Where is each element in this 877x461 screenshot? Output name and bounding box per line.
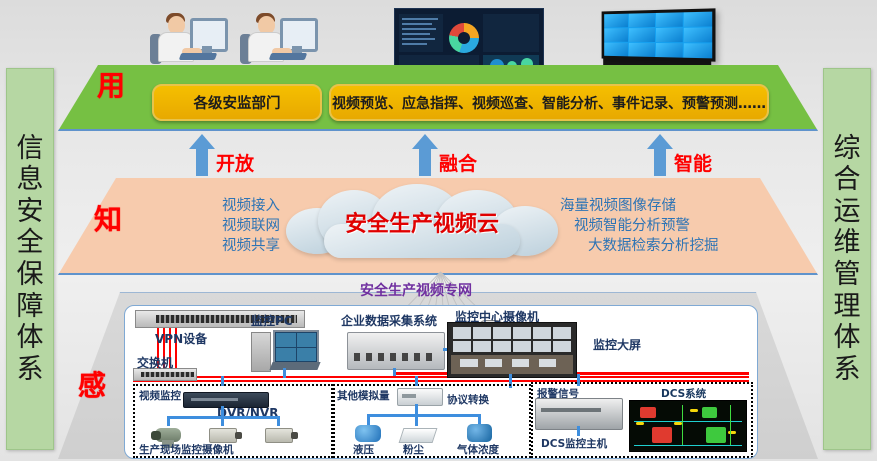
sidebar-char: 系 (834, 354, 861, 386)
sidebar-char: 综 (834, 133, 861, 165)
group-title-video: 视频监控 (139, 388, 181, 403)
arrow-up-icon-open (189, 134, 215, 176)
link-line-blue (277, 416, 280, 426)
arrow-up-icon-smart (647, 134, 673, 176)
video-wall-screens (602, 8, 716, 61)
dashboard-panel (483, 14, 539, 52)
operator-person (238, 8, 316, 70)
dcs-scada-screenshot (629, 400, 747, 452)
sidebar-char: 信 (17, 133, 44, 165)
capability-item: 海量视频图像存储 (560, 196, 775, 216)
caption-site-cameras: 生产现场监控摄像机 (139, 442, 234, 457)
pill-application-functions[interactable]: 视频预览、应急指挥、视频巡查、智能分析、事件记录、预警预测…… (329, 84, 769, 121)
label-protocol-converter: 协议转换 (447, 392, 489, 407)
monitor-stand-shape (292, 46, 302, 53)
cloud-title: 安全生产视频云 (286, 206, 558, 238)
sidebar-char: 运 (834, 196, 861, 228)
link-line-blue (393, 368, 396, 376)
label-dcs-host: DCS监控主机 (541, 436, 607, 451)
sidebar-char: 保 (17, 259, 44, 291)
pc-tower-image (251, 332, 271, 372)
arrow-label-fuse: 融合 (439, 149, 477, 176)
gas-sensor-image (467, 424, 492, 442)
box-camera-image (265, 428, 293, 443)
capability-item: 大数据检索分析挖掘 (560, 236, 775, 256)
arrow-label-open: 开放 (216, 149, 254, 176)
bus-line-red (133, 376, 749, 378)
sidebar-char: 管 (834, 259, 861, 291)
link-line-blue (283, 368, 286, 378)
sidebar-information-security: 信 息 安 全 保 障 体 系 (6, 68, 54, 450)
protocol-converter-image (397, 388, 443, 406)
pc-keyboard-image (269, 362, 320, 370)
sidebar-char: 障 (17, 291, 44, 323)
cloud-shape: 安全生产视频云 (286, 184, 558, 260)
control-room-image (447, 322, 577, 378)
platform-capabilities-left: 视频接入 视频联网 视频共享 (120, 196, 280, 256)
sidebar-char: 体 (834, 322, 861, 354)
label-monitor-pc: 监控PC (251, 312, 293, 329)
platform-capabilities-right: 海量视频图像存储 视频智能分析预警 大数据检索分析挖掘 (560, 196, 775, 256)
label-video-wall: 监控大屏 (593, 336, 641, 353)
link-line-blue (367, 414, 481, 417)
label-hydraulic: 液压 (353, 442, 374, 457)
data-collector-image (347, 332, 445, 370)
sidebar-char: 体 (17, 322, 44, 354)
capability-item: 视频共享 (120, 236, 280, 256)
sidebar-char: 理 (834, 291, 861, 323)
link-line-blue (577, 374, 580, 386)
sidebar-operations-management: 综 合 运 维 管 理 体 系 (823, 68, 871, 450)
box-camera-image (209, 428, 237, 443)
hydraulic-sensor-image (355, 425, 381, 442)
donut-chart-icon (449, 23, 479, 53)
operators-illustration (148, 8, 318, 70)
diagram-canvas: 信 息 安 全 保 障 体 系 综 合 运 维 管 理 体 系 (0, 0, 877, 461)
label-dust: 粉尘 (403, 442, 424, 457)
arrow-label-smart: 智能 (674, 149, 712, 176)
keyboard-shape (179, 53, 218, 60)
group-title-analog: 其他模拟量 (337, 388, 390, 403)
pc-screen-image (273, 330, 319, 364)
sidebar-char: 合 (834, 164, 861, 196)
link-line-blue (415, 414, 418, 426)
sidebar-char: 安 (17, 196, 44, 228)
keyboard-shape (269, 53, 308, 60)
link-line-blue (415, 376, 418, 386)
link-line-blue (577, 426, 580, 436)
capability-item: 视频联网 (120, 216, 280, 236)
dust-sensor-image (399, 428, 438, 443)
pill-safety-supervision-departments[interactable]: 各级安监部门 (152, 84, 322, 121)
layer-label-perception: 感 (78, 364, 107, 404)
capability-item: 视频接入 (120, 196, 280, 216)
label-data-collector: 企业数据采集系统 (341, 312, 437, 329)
sidebar-char: 系 (17, 354, 44, 386)
link-line-blue (415, 404, 418, 414)
sidebar-char: 息 (17, 164, 44, 196)
capability-item: 视频智能分析预警 (560, 216, 775, 236)
link-line-blue (221, 376, 224, 386)
label-vpn-device: VPN设备 (155, 330, 207, 347)
label-switch: 交换机 (137, 354, 173, 371)
layer-label-application: 用 (97, 64, 126, 104)
private-network-label: 安全生产视频专网 (360, 280, 472, 300)
arrow-up-icon-fuse (412, 134, 438, 176)
sidebar-char: 维 (834, 227, 861, 259)
label-gas-concentration: 气体浓度 (457, 442, 499, 457)
operator-person (148, 8, 226, 70)
layer-label-platform: 知 (94, 198, 123, 238)
perception-device-panel: VPN设备 交换机 监控PC 企业数据采集系统 监控中心摄像机 监控大屏 (124, 305, 758, 459)
caption-dcs-system: DCS系统 (661, 386, 706, 401)
monitor-stand-shape (202, 46, 212, 53)
link-line-blue (221, 416, 224, 426)
sidebar-char: 全 (17, 227, 44, 259)
link-line-blue (221, 406, 224, 416)
